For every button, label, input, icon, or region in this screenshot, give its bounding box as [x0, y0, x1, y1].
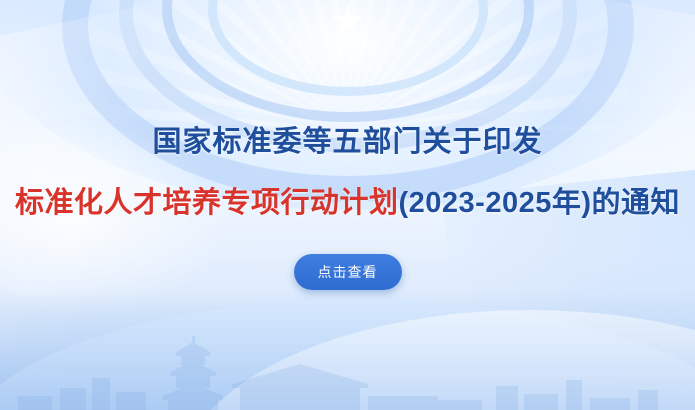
banner-title-line-2: 标准化人才培养专项行动计划(2023-2025年)的通知: [15, 179, 680, 221]
banner-title-line-1: 国家标准委等五部门关于印发: [152, 118, 542, 160]
promo-banner: 国家标准委等五部门关于印发 标准化人才培养专项行动计划(2023-2025年)的…: [0, 0, 695, 410]
banner-title-suffix: (2023-2025年)的通知: [399, 187, 681, 219]
banner-content: 国家标准委等五部门关于印发 标准化人才培养专项行动计划(2023-2025年)的…: [0, 0, 695, 410]
banner-title-highlight: 标准化人才培养专项行动计划: [15, 187, 399, 219]
view-details-button[interactable]: 点击查看: [294, 254, 402, 290]
